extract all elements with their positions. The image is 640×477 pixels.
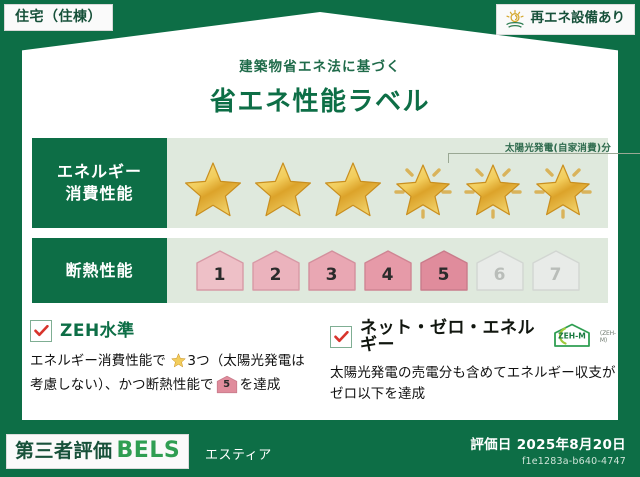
- owner-name: エスティア: [205, 444, 272, 463]
- energy-label-line1: エネルギー: [57, 161, 142, 183]
- grade-tile-6: 6: [474, 248, 526, 293]
- checkbox-checked-icon: [330, 326, 352, 348]
- zeh-desc-part3: を達成: [240, 377, 281, 393]
- star-filled-solar: [529, 158, 597, 222]
- star-sparkle-icon: [391, 160, 455, 220]
- zeh-m-logo-icon: ZEH-M: [552, 322, 592, 352]
- energy-row-label: エネルギー 消費性能: [32, 138, 167, 228]
- star-filled: [319, 158, 387, 222]
- energy-performance-row: エネルギー 消費性能 太陽光発電(自家消費)分: [32, 138, 608, 228]
- energy-performance-label: 住宅（住棟） 再エネ設備あり 建築物省エネ法に基づく 省エネ性能ラベル エネルギ…: [0, 0, 640, 477]
- inline-grade-value: 5: [216, 377, 238, 393]
- star-sparkle-icon: [531, 160, 595, 220]
- criterion-zeh-title: ZEH水準: [60, 323, 135, 340]
- star-icon: [183, 161, 243, 219]
- star-icon: [253, 161, 313, 219]
- evaluation-date-label: 評価日: [470, 437, 511, 453]
- star-rating: [167, 138, 608, 228]
- third-party-eval-label: 第三者評価: [15, 442, 113, 461]
- grade-tile-4: 4: [362, 248, 414, 293]
- grade-value: 1: [214, 267, 226, 293]
- checkbox-checked-icon: [30, 320, 52, 342]
- star-icon: [323, 161, 383, 219]
- criterion-zeh-header: ZEH水準: [30, 320, 310, 342]
- star-filled: [179, 158, 247, 222]
- grade-tile-1: 1: [194, 248, 246, 293]
- grade-tile-3: 3: [306, 248, 358, 293]
- title-subtitle: 建築物省エネ法に基づく: [0, 55, 640, 75]
- evaluation-meta: 評価日 2025年8月20日 f1e1283a-b640-4747: [470, 433, 626, 467]
- star-filled-solar: [389, 158, 457, 222]
- grade-tile-inline: 5: [216, 375, 238, 394]
- criterion-net-zero-description: 太陽光発電の売電分も含めてエネルギー収支がゼロ以下を達成: [330, 363, 620, 405]
- insulation-label-text: 断熱性能: [65, 260, 133, 282]
- renewable-badge-label: 再エネ設備あり: [531, 12, 626, 26]
- grade-value: 7: [550, 267, 562, 293]
- criterion-zeh: ZEH水準 エネルギー消費性能で 3つ（太陽光発電は考慮しない）、かつ断熱性能で…: [30, 320, 310, 396]
- insulation-row-label: 断熱性能: [32, 238, 167, 303]
- solar-sun-icon: [504, 9, 526, 29]
- insulation-row-body: 1 2 3 4: [167, 238, 608, 303]
- criterion-net-zero: ネット・ゼロ・エネルギー ZEH-M (ZEH-M) 太陽光発電の売電分も含めて…: [330, 320, 620, 405]
- evaluation-date: 評価日 2025年8月20日: [470, 433, 626, 453]
- grade-value: 2: [270, 267, 282, 293]
- zeh-desc-part1: エネルギー消費性能で: [30, 353, 166, 369]
- renewable-equipment-badge: 再エネ設備あり: [496, 4, 636, 35]
- energy-label-line2: 消費性能: [65, 183, 133, 205]
- energy-row-body: 太陽光発電(自家消費)分: [167, 138, 608, 228]
- star-filled-solar: [459, 158, 527, 222]
- grade-tile-5: 5: [418, 248, 470, 293]
- grade-tile-7: 7: [530, 248, 582, 293]
- criterion-zeh-description: エネルギー消費性能で 3つ（太陽光発電は考慮しない）、かつ断熱性能で 5を達成: [30, 351, 310, 396]
- grade-tile-2: 2: [250, 248, 302, 293]
- star-icon-inline: [167, 356, 186, 372]
- grade-value: 3: [326, 267, 338, 293]
- svg-text:ZEH-M: ZEH-M: [558, 332, 586, 341]
- title-main: 省エネ性能ラベル: [0, 81, 640, 118]
- star-filled: [249, 158, 317, 222]
- grade-value: 5: [438, 267, 450, 293]
- bels-evaluation-chip: 第三者評価 BELS: [6, 434, 189, 469]
- criterion-net-zero-title: ネット・ゼロ・エネルギー: [360, 320, 543, 354]
- insulation-grade-scale: 1 2 3 4: [167, 238, 608, 303]
- grade-value: 4: [382, 267, 394, 293]
- zeh-m-logo-caption: (ZEH-M): [600, 330, 620, 344]
- label-title: 建築物省エネ法に基づく 省エネ性能ラベル: [0, 55, 640, 118]
- star-sparkle-icon: [461, 160, 525, 220]
- building-type-chip: 住宅（住棟）: [4, 4, 113, 31]
- grade-value: 6: [494, 267, 506, 293]
- bels-logo-text: BELS: [117, 440, 181, 462]
- insulation-performance-row: 断熱性能 1 2: [32, 238, 608, 303]
- criterion-net-zero-header: ネット・ゼロ・エネルギー ZEH-M (ZEH-M): [330, 320, 620, 354]
- evaluation-id: f1e1283a-b640-4747: [470, 456, 626, 467]
- evaluation-date-value: 2025年8月20日: [517, 437, 626, 453]
